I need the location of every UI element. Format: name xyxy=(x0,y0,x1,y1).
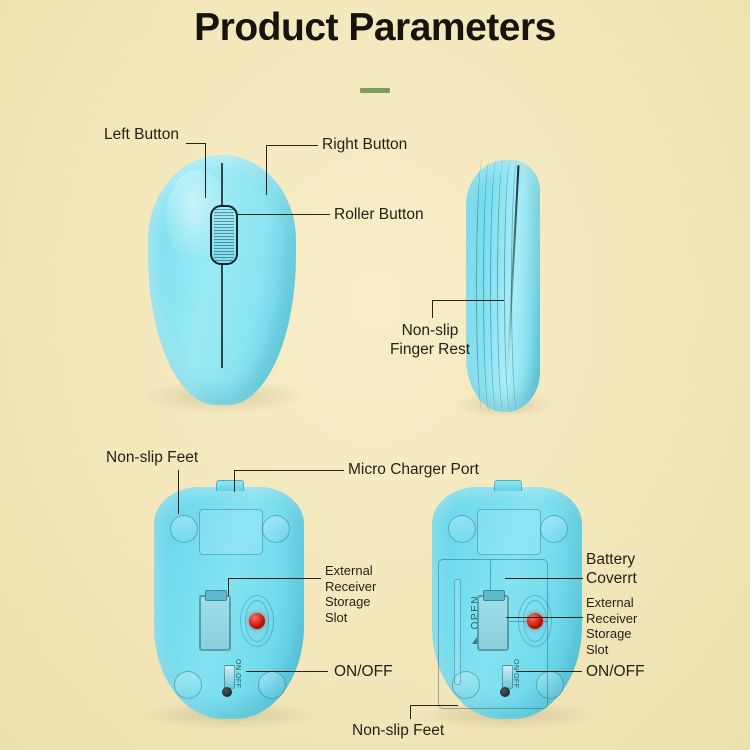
title-divider xyxy=(360,88,390,93)
mouse-bottom-view-left: ON OFF xyxy=(154,487,304,719)
leader-right-button-h xyxy=(266,145,318,146)
leader-finger-rest-v xyxy=(432,300,433,318)
label-non-slip-feet-bottom: Non-slip Feet xyxy=(352,722,444,741)
label-plate xyxy=(199,509,263,555)
label-roller-button: Roller Button xyxy=(334,206,424,225)
label-receiver-slot-left: External Receiver Storage Slot xyxy=(325,563,376,625)
leader-left-button-h xyxy=(186,143,206,144)
sensor-led xyxy=(527,613,543,629)
label-non-slip-feet-left: Non-slip Feet xyxy=(106,449,198,468)
leader-charger-v xyxy=(234,470,235,492)
label-finger-rest: Non-slip Finger Rest xyxy=(380,322,480,360)
optical-sensor xyxy=(240,595,274,647)
cable-hole xyxy=(500,687,510,697)
scroll-wheel-ribs xyxy=(214,209,234,261)
leader-receiver-right-h xyxy=(506,617,583,618)
leader-finger-rest-h xyxy=(432,300,504,301)
non-slip-foot xyxy=(262,515,290,543)
label-right-button: Right Button xyxy=(322,136,407,155)
leader-feet-bottom-h xyxy=(410,705,458,706)
label-receiver-slot-right: External Receiver Storage Slot xyxy=(586,595,637,657)
leader-onoff-right-h xyxy=(516,671,582,672)
scroll-wheel xyxy=(210,205,238,265)
leader-receiver-left-h xyxy=(228,578,321,579)
label-on-off-left: ON/OFF xyxy=(334,663,393,682)
label-left-button: Left Button xyxy=(104,126,179,145)
mouse-top-view xyxy=(148,155,296,405)
leader-onoff-left-h xyxy=(246,671,328,672)
optical-sensor xyxy=(518,595,552,647)
infographic-canvas: Product Parameters Left Button Right But… xyxy=(0,0,750,750)
mouse-side-view xyxy=(466,160,540,412)
mouse-center-seam xyxy=(221,163,223,368)
micro-charger-port xyxy=(216,480,244,491)
label-battery-cover: Battery Coverrt xyxy=(586,551,637,589)
receiver-storage-slot xyxy=(199,595,231,651)
leader-charger-h xyxy=(234,470,344,471)
battery-cover-groove xyxy=(454,579,461,685)
non-slip-foot xyxy=(174,671,202,699)
power-switch-marking: ON OFF xyxy=(512,659,519,688)
label-micro-charger-port: Micro Charger Port xyxy=(348,461,479,480)
power-switch-marking: ON OFF xyxy=(234,659,241,688)
non-slip-foot xyxy=(258,671,286,699)
non-slip-foot xyxy=(540,515,568,543)
leader-feet-left-v xyxy=(178,470,179,514)
leader-roller-button-h xyxy=(236,214,330,215)
non-slip-foot xyxy=(170,515,198,543)
leader-left-button-v xyxy=(205,143,206,198)
leader-right-button-v xyxy=(266,145,267,195)
leader-feet-bottom-v xyxy=(410,705,411,719)
non-slip-foot xyxy=(448,515,476,543)
micro-charger-port xyxy=(494,480,522,491)
leader-receiver-left-v xyxy=(228,578,229,596)
label-on-off-right: ON/OFF xyxy=(586,663,645,682)
receiver-storage-slot xyxy=(477,595,509,651)
page-title: Product Parameters xyxy=(0,6,750,50)
cable-hole xyxy=(222,687,232,697)
leader-battery-cover-h xyxy=(505,578,583,579)
sensor-led xyxy=(249,613,265,629)
mouse-bottom-view-right: OPEN ON OFF xyxy=(432,487,582,719)
label-plate xyxy=(477,509,541,555)
